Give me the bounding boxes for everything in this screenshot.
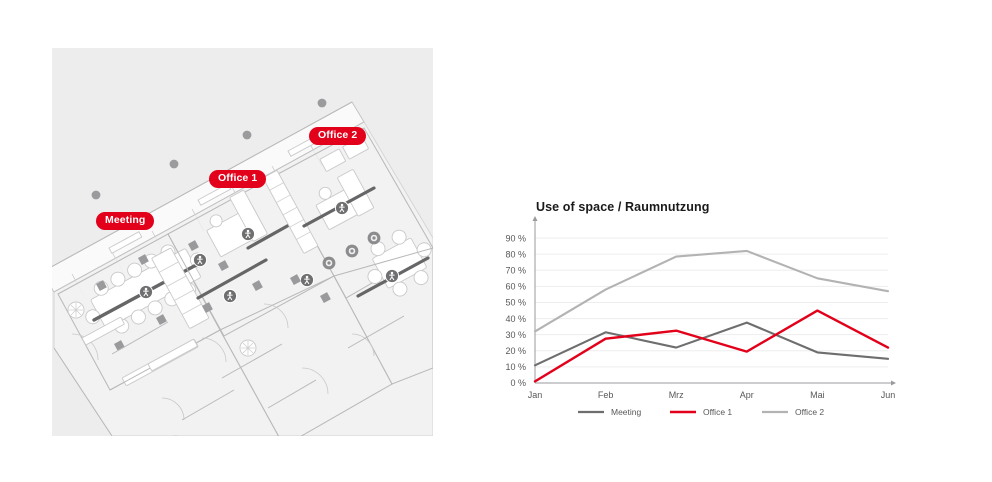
use-of-space-chart: Use of space / Raumnutzung 0 %10 %20 %30… [480, 190, 900, 435]
sensor-icon [385, 269, 398, 282]
sensor-icon [139, 285, 152, 298]
chart-y-tick-labels: 0 %10 %20 %30 %40 %50 %60 %70 %80 %90 % [505, 233, 526, 388]
y-tick-label: 40 % [505, 314, 526, 324]
room-label-office-2[interactable]: Office 2 [309, 127, 366, 145]
sensor-icon [193, 253, 206, 266]
x-tick-label: Mrz [669, 390, 684, 400]
sensor-icon [223, 289, 236, 302]
y-tick-label: 50 % [505, 298, 526, 308]
chart-legend[interactable]: MeetingOffice 1Office 2 [578, 407, 824, 417]
x-tick-label: Mai [810, 390, 825, 400]
y-tick-label: 80 % [505, 249, 526, 259]
x-tick-label: Jun [881, 390, 896, 400]
ring-icon [323, 257, 336, 270]
ring-icon [368, 232, 381, 245]
sensor-icon [241, 227, 254, 240]
room-label-office-1[interactable]: Office 1 [209, 170, 266, 188]
ring-icon [346, 245, 359, 258]
y-tick-label: 10 % [505, 362, 526, 372]
x-tick-label: Apr [740, 390, 754, 400]
x-tick-label: Feb [598, 390, 614, 400]
legend-label-meeting[interactable]: Meeting [611, 407, 642, 417]
series-line-office-1 [535, 311, 888, 382]
y-tick-label: 60 % [505, 282, 526, 292]
x-axis-arrow [891, 381, 896, 386]
room-label-meeting[interactable]: Meeting [96, 212, 154, 230]
sensor-icon [335, 201, 348, 214]
y-tick-label: 70 % [505, 265, 526, 275]
y-tick-label: 20 % [505, 346, 526, 356]
chart-gridlines [535, 238, 888, 383]
chart-x-tick-labels: JanFebMrzAprMaiJun [528, 390, 896, 400]
floor-plan-graphic: .wall { fill: none; stroke: #b9b9bb; str… [52, 48, 433, 436]
x-tick-label: Jan [528, 390, 543, 400]
legend-label-office-1[interactable]: Office 1 [703, 407, 732, 417]
y-axis-arrow [533, 216, 538, 221]
y-tick-label: 90 % [505, 233, 526, 243]
y-tick-label: 30 % [505, 330, 526, 340]
legend-label-office-2[interactable]: Office 2 [795, 407, 824, 417]
floor-plan: .wall { fill: none; stroke: #b9b9bb; str… [52, 48, 433, 436]
y-tick-label: 0 % [510, 378, 526, 388]
chart-graphic: 0 %10 %20 %30 %40 %50 %60 %70 %80 %90 % … [480, 190, 900, 435]
sensor-icon [300, 273, 313, 286]
series-line-meeting [535, 323, 888, 366]
